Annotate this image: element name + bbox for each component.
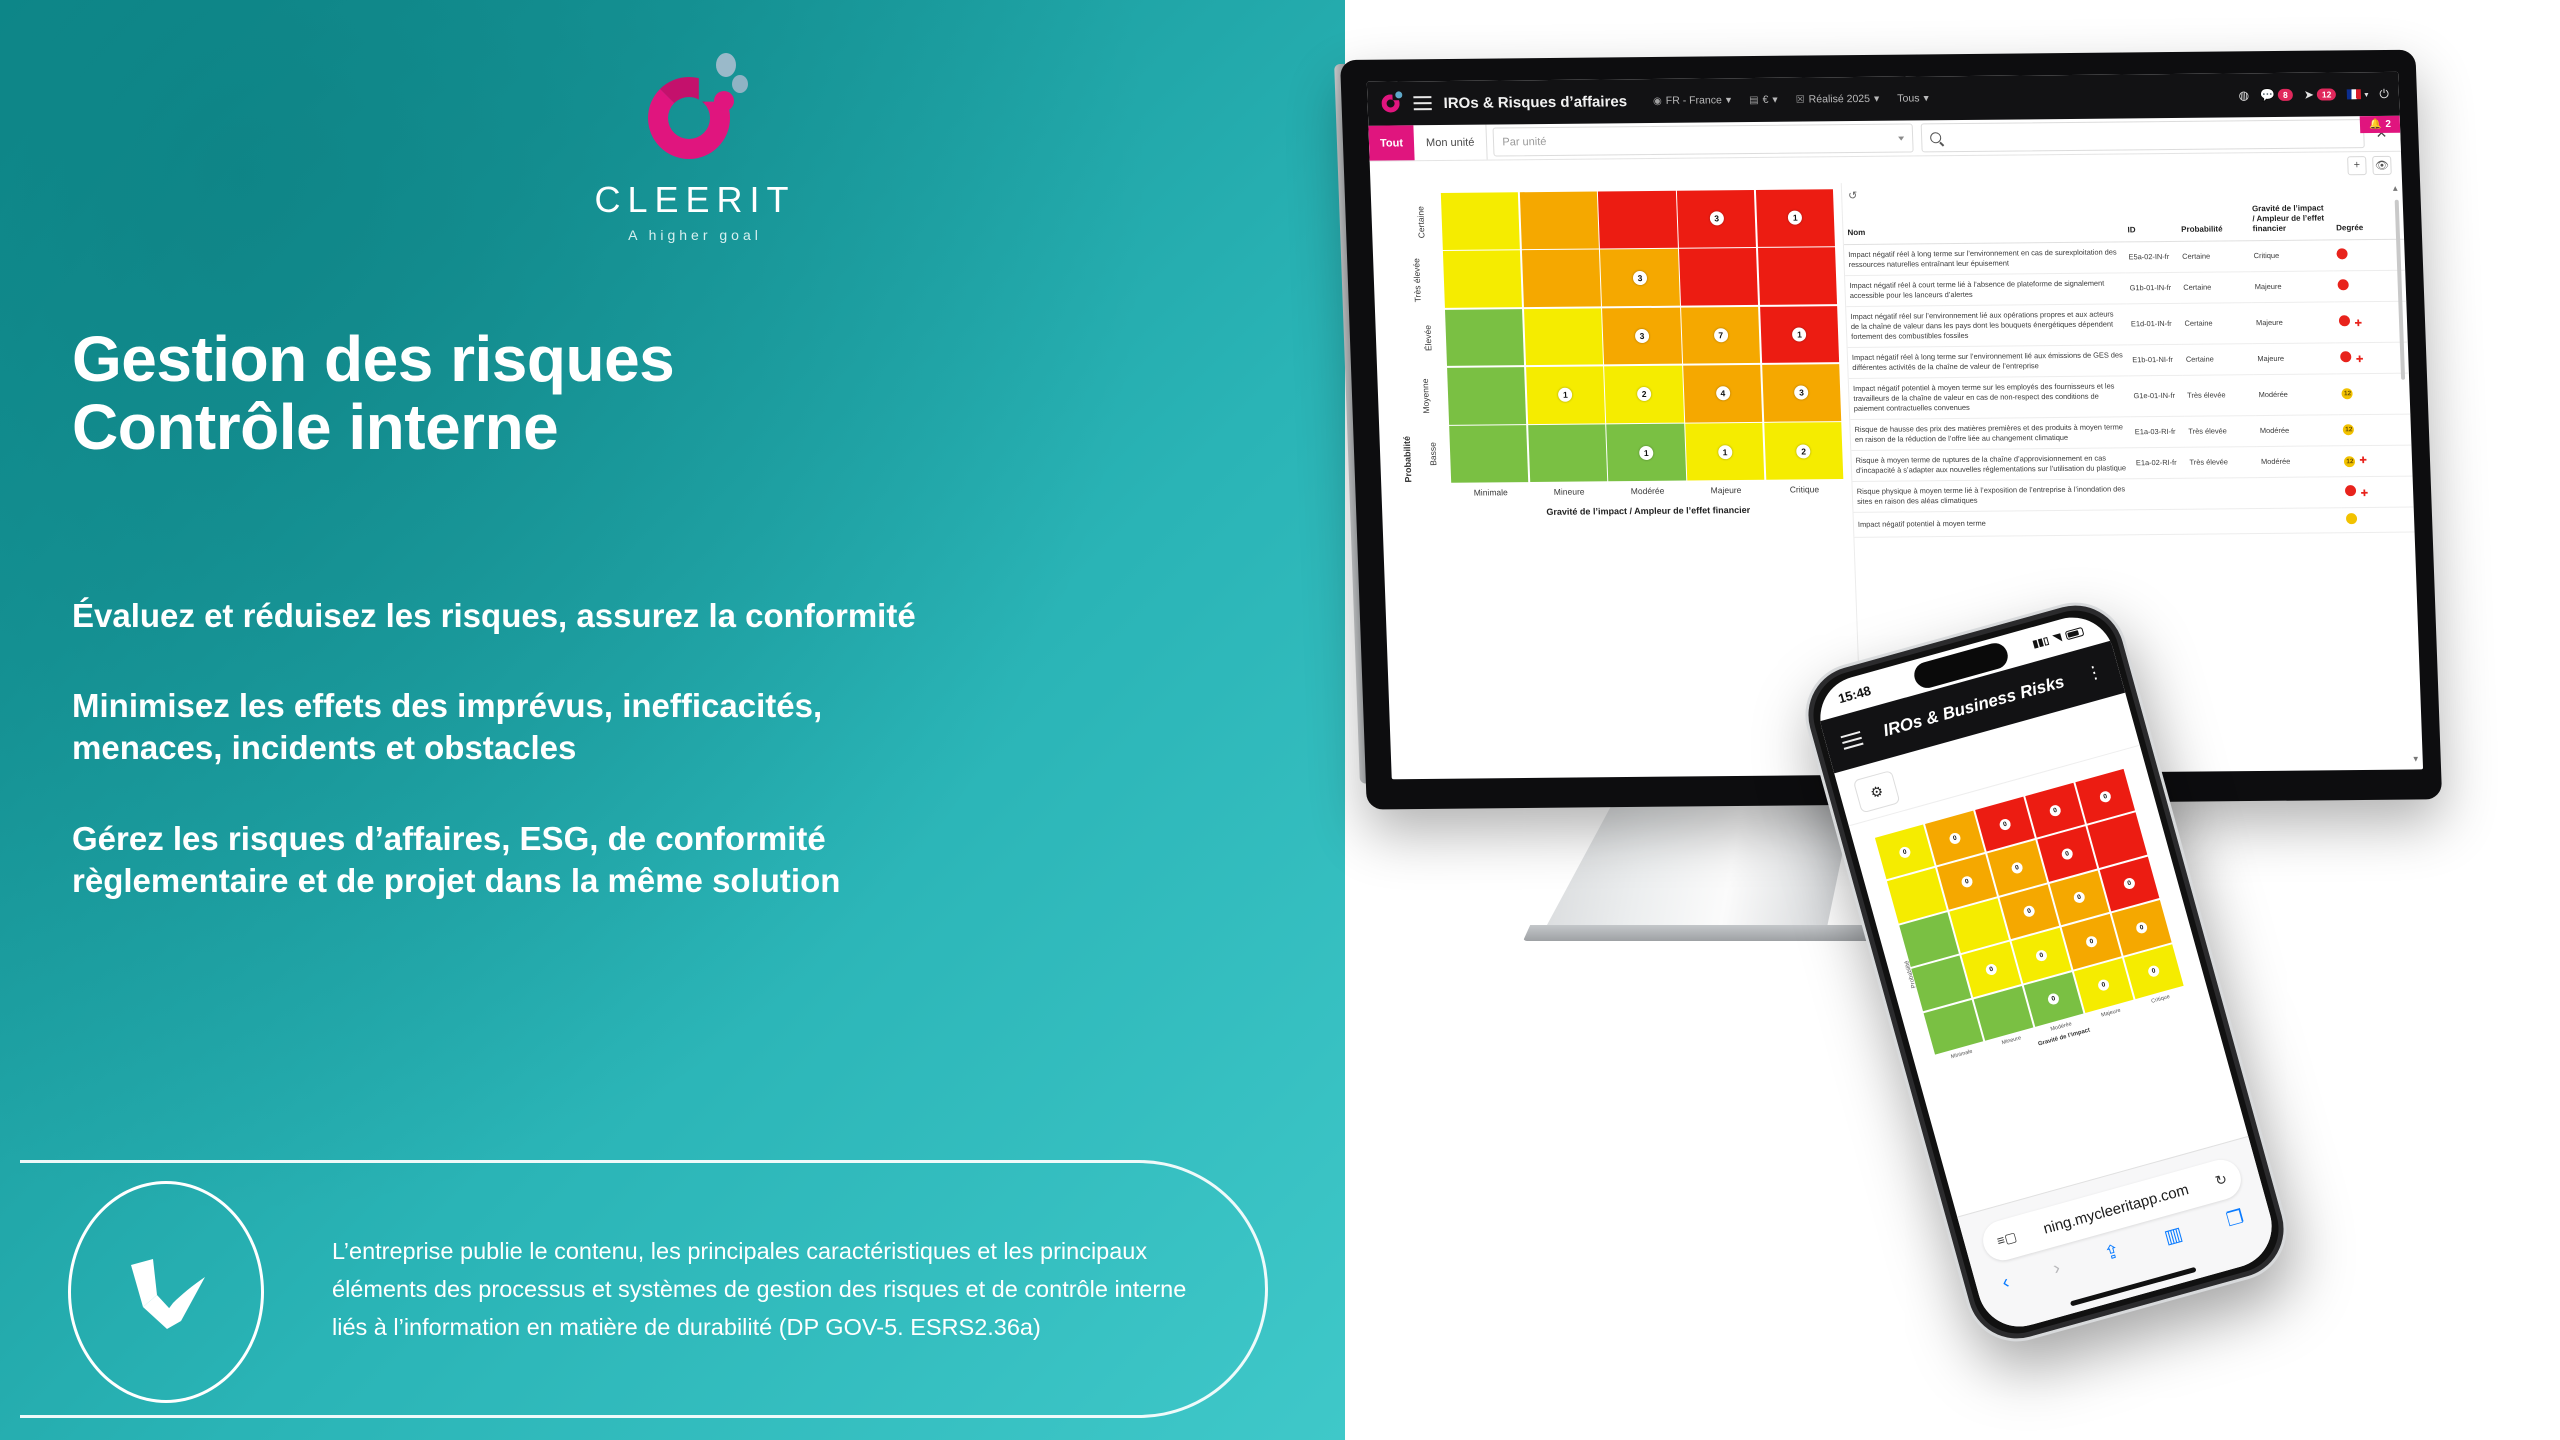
cell-probabilite: Très élevée bbox=[2182, 374, 2255, 416]
heatmap-cell-count[interactable]: 3 bbox=[1633, 271, 1648, 285]
phone-heatmap-cell-count: 0 bbox=[2061, 847, 2075, 861]
cell-gravite bbox=[2259, 507, 2343, 533]
phone-heatmap-cell-count: 0 bbox=[1898, 845, 1912, 859]
app-logo-icon[interactable] bbox=[1379, 92, 1402, 114]
cell-degree bbox=[2334, 270, 2407, 302]
heatmap-cell[interactable]: 3 bbox=[1602, 307, 1681, 365]
battery-icon bbox=[2065, 626, 2085, 639]
cell-degree: ✚ bbox=[2336, 342, 2409, 374]
phone-heatmap-cell-count: 0 bbox=[2010, 861, 2024, 875]
cell-gravite: Modérée bbox=[2257, 446, 2342, 478]
benefit-item-1: Évaluez et réduisez les risques, assurez… bbox=[72, 595, 1272, 637]
language-flag-icon[interactable]: ▾ bbox=[2347, 89, 2368, 99]
search-input[interactable]: ✕ bbox=[1921, 119, 2365, 152]
cell-degree: ✚ bbox=[2341, 476, 2414, 508]
phone-heatmap-cell-count: 0 bbox=[2135, 921, 2149, 935]
heatmap-y-tick: Certaine bbox=[1401, 193, 1443, 251]
heatmap-x-tick: Mineure bbox=[1530, 486, 1609, 497]
heatmap-y-axis-label: Probabilité bbox=[1402, 436, 1414, 483]
heatmap-cell-count[interactable]: 3 bbox=[1709, 212, 1724, 226]
col-gravite[interactable]: Gravité de l’impact / Ampleur de l’effet… bbox=[2248, 199, 2333, 240]
cleerit-logo-mark bbox=[640, 55, 750, 165]
heatmap-cell-count[interactable]: 1 bbox=[1558, 388, 1573, 402]
benefit-item-3: Gérez les risques d’affaires, ESG, de co… bbox=[72, 818, 1272, 902]
target-icon: ☒ bbox=[1796, 94, 1805, 105]
cell-probabilite: Certaine bbox=[2181, 344, 2254, 376]
degree-dot-icon: 12 bbox=[2343, 424, 2354, 435]
logo-tagline: A higher goal bbox=[565, 227, 825, 243]
chevron-down-icon: ▾ bbox=[1772, 94, 1778, 106]
heatmap-cell[interactable] bbox=[1758, 247, 1837, 305]
heatmap-cell-count[interactable]: 7 bbox=[1714, 328, 1729, 342]
heatmap-cell[interactable] bbox=[1522, 250, 1601, 308]
heatmap-cell[interactable]: 7 bbox=[1681, 307, 1760, 365]
cell-gravite: Critique bbox=[2249, 240, 2334, 272]
scroll-down-icon[interactable]: ▼ bbox=[2412, 754, 2420, 763]
heatmap-grid: 3133711243112 bbox=[1441, 189, 1843, 483]
cell-degree bbox=[2333, 239, 2406, 271]
degree-dot-icon: 12 bbox=[2344, 456, 2355, 467]
trend-arrow-icon: ✚ bbox=[2354, 318, 2362, 328]
trend-arrow-icon: ✚ bbox=[2359, 455, 2367, 465]
cell-nom: Risque à moyen terme de ruptures de la c… bbox=[1851, 448, 2132, 482]
filter-period-label: Réalisé 2025 bbox=[1808, 93, 1870, 106]
trend-arrow-icon: ✚ bbox=[2356, 354, 2364, 364]
phone-heatmap-cell-count: 0 bbox=[2098, 790, 2112, 804]
cell-nom: Risque physique à moyen terme lié à l’ex… bbox=[1852, 479, 2133, 513]
chevron-down-icon: ▾ bbox=[1726, 94, 1732, 106]
phone-status-icons: ▮▮▯ ◥ bbox=[2031, 625, 2084, 650]
degree-dot-icon bbox=[2346, 513, 2357, 524]
heatmap-y-tick: Moyenne bbox=[1407, 367, 1449, 425]
home-indicator bbox=[2070, 1267, 2197, 1307]
phone-heatmap-cell-count: 0 bbox=[2085, 935, 2099, 949]
cell-nom: Impact négatif réel sur l’environnement … bbox=[1846, 304, 2128, 348]
cell-gravite: Majeure bbox=[2250, 271, 2335, 303]
col-nom[interactable]: Nom bbox=[1842, 201, 2124, 244]
send-badge: 12 bbox=[2317, 88, 2337, 100]
phone-heatmap-cell-count: 0 bbox=[1998, 817, 2012, 831]
table-row[interactable]: Impact négatif potentiel à moyen terme s… bbox=[1849, 373, 2411, 419]
cell-id: E1d-01-IN-fr bbox=[2126, 303, 2181, 344]
chevron-down-icon: ▾ bbox=[1923, 92, 1929, 104]
heatmap-x-tick: Modérée bbox=[1608, 486, 1687, 497]
heatmap-cell[interactable] bbox=[1445, 309, 1524, 367]
headline-line-1: Gestion des risques bbox=[72, 325, 674, 393]
cell-probabilite: Très élevée bbox=[2185, 446, 2258, 478]
phone-heatmap-cell-count: 0 bbox=[2097, 979, 2111, 993]
heatmap-y-tick: Basse bbox=[1409, 425, 1451, 483]
cellular-icon: ▮▮▯ bbox=[2031, 635, 2050, 650]
menu-toggle-icon[interactable] bbox=[1413, 96, 1432, 110]
benefit-list: Évaluez et réduisez les risques, assurez… bbox=[72, 595, 1272, 950]
cell-degree: 12✚ bbox=[2340, 445, 2413, 477]
degree-dot-icon bbox=[2337, 248, 2348, 259]
heatmap-cell[interactable] bbox=[1524, 308, 1603, 366]
logo-ring-icon bbox=[648, 77, 730, 159]
cell-nom: Impact négatif potentiel à moyen terme s… bbox=[1849, 376, 2131, 420]
logo-dot-medium-icon bbox=[732, 75, 748, 93]
phone-heatmap-cell-count: 0 bbox=[1960, 875, 1974, 889]
bell-count: 2 bbox=[2385, 119, 2391, 130]
send-icon[interactable]: ➤12 bbox=[2304, 87, 2337, 101]
heatmap-cell-count[interactable]: 3 bbox=[1794, 386, 1809, 400]
reload-icon[interactable]: ↻ bbox=[2213, 1170, 2229, 1190]
heatmap-y-tick: Très élevée bbox=[1403, 251, 1445, 309]
heatmap-cell[interactable] bbox=[1449, 425, 1528, 483]
heatmap-y-tick: Élevée bbox=[1405, 309, 1447, 367]
phone-heatmap-cell-count: 0 bbox=[2048, 804, 2062, 818]
heatmap-cell-count[interactable]: 1 bbox=[1639, 445, 1654, 459]
phone-heatmap-grid: 000000000000000000 bbox=[1875, 769, 2184, 1055]
cell-nom: Risque de hausse des prix des matières p… bbox=[1850, 417, 2131, 451]
unit-select-placeholder: Par unité bbox=[1502, 135, 1546, 147]
add-button[interactable]: + bbox=[2347, 156, 2367, 175]
phone-heatmap-cell-count: 0 bbox=[1985, 963, 1999, 977]
risk-table: Nom ID Probabilité Gravité de l’impact /… bbox=[1842, 199, 2414, 538]
cell-probabilite: Certaine bbox=[2179, 272, 2252, 304]
cell-id bbox=[2134, 509, 2189, 534]
quote-text: L’entreprise publie le contenu, les prin… bbox=[332, 1232, 1212, 1347]
heatmap-cell[interactable] bbox=[1441, 192, 1520, 250]
phone-heatmap-cell-count: 0 bbox=[2023, 905, 2037, 919]
trend-arrow-icon: ✚ bbox=[2360, 488, 2368, 498]
heatmap-cell-count[interactable]: 2 bbox=[1637, 387, 1652, 401]
cell-degree: 12 bbox=[2337, 373, 2410, 415]
user-icon[interactable]: ◍ bbox=[2238, 88, 2249, 102]
heatmap-cell[interactable] bbox=[1447, 367, 1526, 425]
cell-degree: 12 bbox=[2339, 414, 2412, 446]
cell-id: G1b-01-IN-fr bbox=[2125, 272, 2180, 303]
col-probabilite[interactable]: Probabilité bbox=[2176, 200, 2249, 241]
quote-badge bbox=[68, 1181, 264, 1403]
phone-heatmap-cell-count: 0 bbox=[2147, 965, 2161, 979]
benefit-item-2: Minimisez les effets des imprévus, ineff… bbox=[72, 685, 1272, 769]
heatmap-cell[interactable]: 3 bbox=[1677, 190, 1756, 248]
monitor-foot bbox=[1523, 925, 1883, 941]
phone-clock: 15:48 bbox=[1836, 682, 1872, 705]
cell-gravite bbox=[2258, 477, 2343, 509]
chat-badge: 8 bbox=[2278, 89, 2293, 101]
settings-sliders-icon[interactable]: ⚙ bbox=[1853, 770, 1901, 813]
filter-country[interactable]: ◉ FR - France ▾ bbox=[1653, 94, 1731, 107]
bell-icon: 🔔 bbox=[2369, 119, 2382, 130]
heatmap-cell[interactable] bbox=[1598, 191, 1677, 249]
degree-dot-icon bbox=[2339, 315, 2350, 326]
heatmap-cell[interactable]: 1 bbox=[1526, 366, 1605, 424]
hamburger-icon[interactable] bbox=[1840, 731, 1863, 751]
chevron-down-icon bbox=[1898, 136, 1904, 140]
slide-root: CLEERIT A higher goal Gestion des risque… bbox=[0, 0, 2560, 1440]
heatmap-cell-count[interactable]: 2 bbox=[1796, 444, 1811, 458]
cell-probabilite bbox=[2186, 477, 2259, 509]
heatmap-cell[interactable] bbox=[1443, 251, 1522, 309]
cell-nom: Impact négatif réel à court terme lié à … bbox=[1845, 273, 2126, 307]
tab-my-unit[interactable]: Mon unité bbox=[1413, 125, 1488, 161]
heatmap-cell-count[interactable]: 1 bbox=[1718, 445, 1733, 459]
heatmap-cell[interactable] bbox=[1520, 191, 1599, 249]
heatmap-x-tick: Majeure bbox=[1687, 485, 1766, 496]
col-id[interactable]: ID bbox=[2123, 201, 2178, 242]
filter-scope-label: Tous bbox=[1897, 92, 1920, 104]
heatmap-cell[interactable]: 2 bbox=[1605, 366, 1684, 424]
phone-heatmap-cell-count: 0 bbox=[2047, 992, 2061, 1006]
regulation-quote-card: L’entreprise publie le contenu, les prin… bbox=[20, 1160, 1268, 1418]
chevron-down-icon: ▾ bbox=[1874, 93, 1880, 105]
heatmap-cell[interactable] bbox=[1528, 425, 1607, 483]
heatmap-cell[interactable]: 1 bbox=[1685, 423, 1764, 481]
risk-heatmap: Probabilité CertaineTrès élevéeÉlevéeMoy… bbox=[1371, 183, 1862, 779]
heatmap-cell[interactable]: 1 bbox=[1760, 306, 1839, 364]
cell-probabilite: Certaine bbox=[2180, 303, 2253, 345]
wifi-icon: ◥ bbox=[2052, 632, 2062, 645]
chevron-left-icon[interactable]: ‹ bbox=[2000, 1271, 2012, 1294]
logout-icon[interactable]: ⏻ bbox=[2379, 86, 2389, 101]
heatmap-cell[interactable]: 4 bbox=[1683, 365, 1762, 423]
book-icon[interactable]: ▥ bbox=[2162, 1223, 2185, 1250]
cell-id: E1a-03-RI-fr bbox=[2130, 416, 2185, 447]
cleerit-logo: CLEERIT A higher goal bbox=[565, 55, 825, 243]
cell-nom: Impact négatif potentiel à moyen terme bbox=[1854, 509, 2135, 537]
heatmap-x-ticks: MinimaleMineureModéréeMajeureCritique bbox=[1451, 484, 1843, 498]
cell-nom: Impact négatif réel à long terme sur l’e… bbox=[1844, 242, 2125, 276]
kebab-menu-icon[interactable]: ⋮ bbox=[2085, 666, 2104, 680]
unit-select[interactable]: Par unité bbox=[1493, 123, 1914, 156]
filter-currency[interactable]: ▤ € ▾ bbox=[1749, 94, 1778, 106]
logo-wordmark: CLEERIT bbox=[565, 179, 825, 221]
phone-heatmap-cell-count: 0 bbox=[2073, 891, 2087, 905]
notification-bell-badge[interactable]: 🔔 2 bbox=[2360, 116, 2401, 133]
cell-gravite: Modérée bbox=[2255, 415, 2340, 447]
left-content-panel: CLEERIT A higher goal Gestion des risque… bbox=[0, 0, 1345, 1440]
device-mockup-panel: IROs & Risques d’affaires ◉ FR - France … bbox=[1345, 0, 2560, 1440]
tab-all[interactable]: Tout bbox=[1368, 125, 1414, 160]
heatmap-cell[interactable]: 1 bbox=[1607, 424, 1686, 482]
tabs-icon[interactable]: ❐ bbox=[2224, 1206, 2247, 1233]
chevron-right-icon[interactable]: › bbox=[2051, 1257, 2063, 1280]
scroll-up-icon[interactable]: ▲ bbox=[2391, 184, 2399, 193]
heatmap-cell[interactable]: 1 bbox=[1756, 189, 1835, 247]
view-toggle-button[interactable]: 👁 bbox=[2372, 155, 2392, 174]
col-degree[interactable]: Degrée bbox=[2331, 199, 2404, 240]
cell-nom: Impact négatif réel à long terme sur l’e… bbox=[1848, 345, 2129, 379]
phone-heatmap-cell-count: 0 bbox=[2123, 877, 2137, 891]
search-icon bbox=[1930, 132, 1941, 143]
cell-degree: ✚ bbox=[2335, 301, 2408, 343]
headline-line-2: Contrôle interne bbox=[72, 393, 674, 461]
filter-country-label: FR - France bbox=[1666, 94, 1722, 107]
currency-icon: ▤ bbox=[1749, 94, 1759, 105]
cell-gravite: Modérée bbox=[2254, 374, 2339, 416]
heatmap-cell[interactable] bbox=[1679, 248, 1758, 306]
chat-icon[interactable]: 💬8 bbox=[2260, 88, 2293, 102]
globe-icon: ◉ bbox=[1653, 95, 1662, 106]
table-row[interactable]: Impact négatif réel sur l’environnement … bbox=[1846, 301, 2408, 347]
app-title: IROs & Risques d’affaires bbox=[1443, 93, 1627, 112]
heatmap-cell[interactable]: 3 bbox=[1600, 249, 1679, 307]
cell-id: E1b-01-NI-fr bbox=[2128, 344, 2183, 375]
heatmap-cell-count[interactable]: 1 bbox=[1792, 327, 1807, 341]
logo-dot-large-icon bbox=[714, 91, 734, 111]
cell-probabilite: Certaine bbox=[2178, 241, 2251, 273]
table-header-row: Nom ID Probabilité Gravité de l’impact /… bbox=[1842, 199, 2404, 245]
heatmap-cell-count[interactable]: 1 bbox=[1788, 211, 1803, 225]
filter-scope[interactable]: Tous ▾ bbox=[1897, 92, 1929, 104]
cell-id: E5a-02-IN-fr bbox=[2124, 241, 2179, 272]
heatmap-x-tick: Minimale bbox=[1451, 487, 1530, 498]
table-row[interactable]: Impact négatif potentiel à moyen terme bbox=[1854, 507, 2415, 537]
filter-currency-label: € bbox=[1762, 94, 1768, 106]
heatmap-x-tick: Critique bbox=[1765, 484, 1844, 495]
topbar-actions: ◍ 💬8 ➤12 ▾ ⏻ bbox=[2238, 72, 2390, 117]
logo-dot-small-icon bbox=[716, 53, 736, 77]
filter-period[interactable]: ☒ Réalisé 2025 ▾ bbox=[1796, 93, 1880, 106]
check-brush-icon bbox=[123, 1255, 209, 1329]
cell-probabilite bbox=[2187, 508, 2259, 534]
reader-view-icon[interactable]: ≡▢ bbox=[1995, 1229, 2018, 1250]
degree-dot-icon: 12 bbox=[2342, 389, 2353, 400]
heatmap-cell-count[interactable]: 4 bbox=[1716, 386, 1731, 400]
degree-dot-icon bbox=[2338, 279, 2349, 290]
cell-id bbox=[2132, 478, 2187, 509]
cell-gravite: Majeure bbox=[2251, 302, 2336, 344]
phone-browser-bar: ≡▢ ning.mycleeritapp.com ↻ ‹ › ⇪ ▥ ❐ bbox=[1957, 1136, 2281, 1336]
heatmap-x-axis-label: Gravité de l’impact / Ampleur de l’effet… bbox=[1452, 504, 1844, 518]
cell-probabilite: Très élevée bbox=[2184, 415, 2257, 447]
page-title: Gestion des risques Contrôle interne bbox=[72, 325, 674, 462]
degree-dot-icon bbox=[2341, 351, 2352, 362]
cell-degree bbox=[2342, 507, 2414, 533]
heatmap-cell[interactable]: 3 bbox=[1762, 364, 1841, 422]
cell-gravite: Majeure bbox=[2253, 343, 2338, 375]
degree-dot-icon bbox=[2345, 485, 2356, 496]
heatmap-cell-count[interactable]: 3 bbox=[1635, 329, 1650, 343]
phone-heatmap-cell-count: 0 bbox=[2035, 949, 2049, 963]
phone-heatmap-cell-count: 0 bbox=[1948, 831, 1962, 845]
cell-id: E1a-02-RI-fr bbox=[2131, 447, 2186, 478]
heatmap-cell[interactable]: 2 bbox=[1764, 422, 1843, 480]
cell-id: G1e-01-IN-fr bbox=[2129, 375, 2184, 416]
share-icon[interactable]: ⇪ bbox=[2102, 1240, 2123, 1266]
